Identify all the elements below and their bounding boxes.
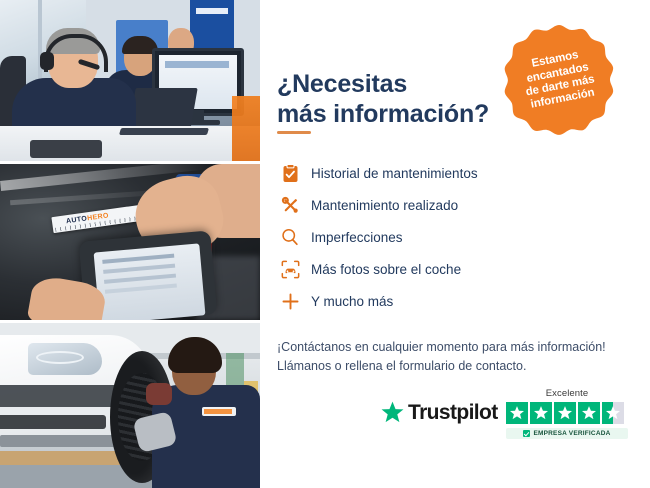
feature-label: Y mucho más <box>303 294 393 309</box>
photo-column: AUTOHERO <box>0 0 260 488</box>
call-center-agents-photo <box>0 0 260 161</box>
car-inspection-ruler-photo: AUTOHERO <box>0 164 260 320</box>
verified-business-badge: EMPRESA VERIFICADA <box>506 428 628 439</box>
feature-item-fotos: Más fotos sobre el coche <box>277 253 567 285</box>
clipboard-check-icon <box>277 162 303 184</box>
feature-label: Historial de mantenimientos <box>303 166 478 181</box>
car-scan-icon <box>277 258 303 280</box>
laptop <box>128 88 197 130</box>
trustpilot-logo: Trustpilot <box>380 400 498 425</box>
feature-label: Más fotos sobre el coche <box>303 262 461 277</box>
plus-icon <box>277 290 303 312</box>
content-panel: ¿Necesitas más información? Estamos enca… <box>260 0 650 488</box>
check-icon <box>523 430 530 437</box>
info-badge: Estamos encantados de darte más informac… <box>503 24 615 136</box>
feature-label: Mantenimiento realizado <box>303 198 458 213</box>
technician-wheel-photo <box>0 323 260 488</box>
uniform-logo <box>202 407 236 416</box>
contact-paragraph: ¡Contáctanos en cualquier momento para m… <box>277 338 637 377</box>
page-title: ¿Necesitas más información? <box>277 69 537 130</box>
feature-item-imperfecciones: Imperfecciones <box>277 221 567 253</box>
feature-label: Imperfecciones <box>303 230 403 245</box>
headline-line-2: más información? <box>277 100 489 128</box>
trustpilot-wordmark: Trustpilot <box>405 401 498 425</box>
feature-item-historial: Historial de mantenimientos <box>277 157 567 189</box>
star-2 <box>530 402 552 424</box>
trustpilot-rating: Excelente EMPRESA VERIFICADA <box>506 388 628 439</box>
trustpilot-widget[interactable]: Trustpilot Excelente EMPRESA VERIFICADA <box>380 388 630 448</box>
paragraph-line-1: ¡Contáctanos en cualquier momento para m… <box>277 340 606 354</box>
title-underline <box>277 131 311 134</box>
tools-cross-icon <box>277 194 303 216</box>
magnifier-icon <box>277 226 303 248</box>
rating-label: Excelente <box>506 388 628 399</box>
feature-item-mantenimiento: Mantenimiento realizado <box>277 189 567 221</box>
paragraph-line-2: Llámanos o rellena el formulario de cont… <box>277 359 526 373</box>
trustpilot-star-icon <box>380 400 405 425</box>
headlight <box>28 343 102 375</box>
verified-label: EMPRESA VERIFICADA <box>533 430 610 437</box>
star-rating <box>506 402 628 424</box>
headline-line-1: ¿Necesitas <box>277 70 407 98</box>
feature-item-mas: Y mucho más <box>277 285 567 317</box>
star-3 <box>554 402 576 424</box>
promo-banner: AUTOHERO <box>0 0 650 488</box>
headset-icon <box>493 32 514 53</box>
star-1 <box>506 402 528 424</box>
star-5-half <box>602 402 624 424</box>
star-4 <box>578 402 600 424</box>
feature-list: Historial de mantenimientos Mantenimient… <box>277 157 567 317</box>
